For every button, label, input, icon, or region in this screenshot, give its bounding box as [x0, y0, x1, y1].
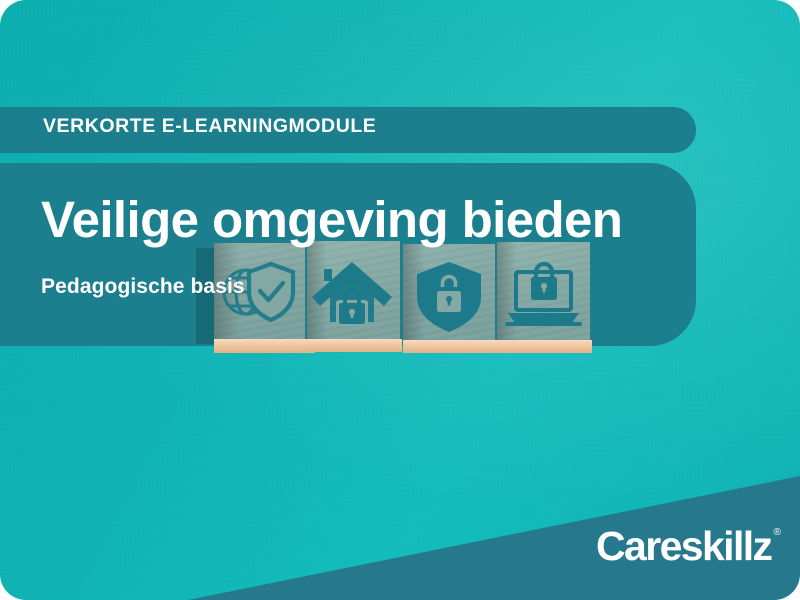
wooden-blocks-photo [0, 0, 800, 600]
wooden-block-2 [307, 241, 402, 352]
eyebrow-label: VERKORTE E-LEARNINGMODULE [43, 115, 376, 138]
registered-trademark-icon: ® [773, 526, 780, 540]
laptop-lock-icon [505, 264, 582, 326]
brand-logo: Careskillz ® [596, 524, 781, 568]
wooden-block-3 [403, 244, 499, 353]
shield-outline [249, 264, 293, 320]
brand-name: Careskillz [596, 524, 771, 568]
page-subtitle: Pedagogische basis [41, 275, 245, 299]
wooden-block-4 [497, 242, 592, 353]
course-card: VERKORTE E-LEARNINGMODULE [0, 0, 800, 600]
page-title: Veilige omgeving bieden [41, 192, 622, 248]
